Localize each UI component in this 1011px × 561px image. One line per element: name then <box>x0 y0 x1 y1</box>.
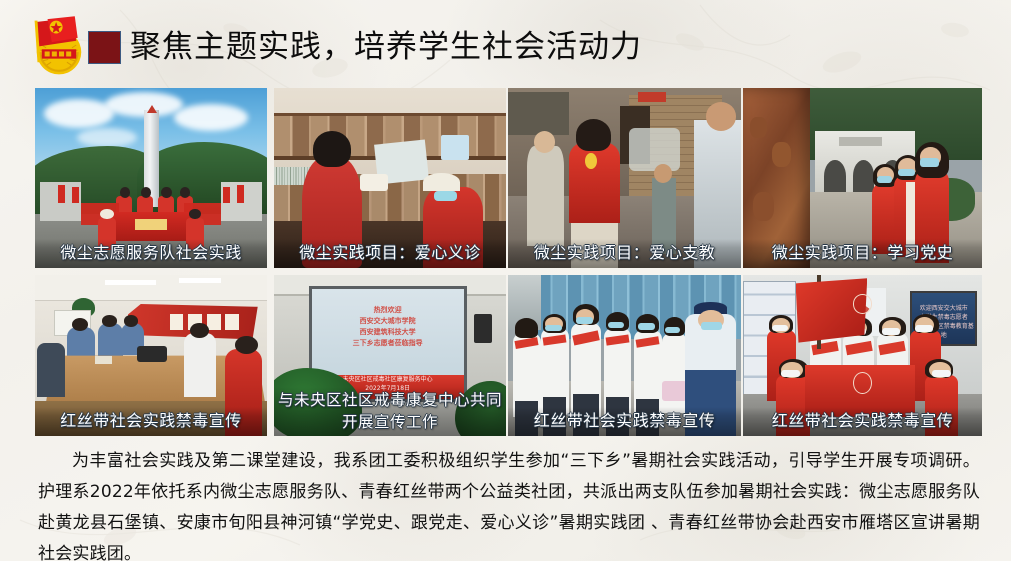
caption-line-2: 开展宣传工作 <box>274 411 506 433</box>
photo-monument-caption: 微尘志愿服务队社会实践 <box>35 239 267 268</box>
photo-street-campaign-caption: 红丝带社会实践禁毒宣传 <box>508 407 741 436</box>
photo-row-2: 红丝带社会实践禁毒宣传 热烈欢迎 西安交大城市学院 西安建筑科技大学 三下乡志愿… <box>35 275 982 436</box>
photo-free-clinic-caption: 微尘实践项目：爱心义诊 <box>274 239 506 268</box>
red-square-bullet <box>88 31 121 64</box>
slide-header: 聚焦主题实践，培养学生社会活动力 <box>0 0 1011 88</box>
caption-line-1: 与未央区社区戒毒康复中心共同 <box>274 389 506 411</box>
projector-line-3: 西安建筑科技大学 <box>312 327 464 338</box>
projector-line-4: 三下乡志愿者莅临指导 <box>312 338 464 349</box>
projector-line-1: 热烈欢迎 <box>312 305 464 316</box>
photo-meeting-room[interactable]: 红丝带社会实践禁毒宣传 <box>35 275 267 436</box>
photo-party-history-caption: 微尘实践项目：学习党史 <box>743 239 982 268</box>
body-paragraph: 为丰富社会实践及第二课堂建设，我系团工委积极组织学生参加“三下乡”暑期社会实践活… <box>38 446 980 561</box>
communist-youth-league-emblem <box>22 12 96 78</box>
photo-group-banner-caption: 红丝带社会实践禁毒宣传 <box>743 407 982 436</box>
slide-root: 聚焦主题实践，培养学生社会活动力 <box>0 0 1011 561</box>
projector-text: 热烈欢迎 西安交大城市学院 西安建筑科技大学 三下乡志愿者莅临指导 <box>312 305 464 349</box>
photo-free-clinic[interactable]: 微尘实践项目：爱心义诊 <box>274 88 506 268</box>
photo-teaching-support[interactable]: 微尘实践项目：爱心支教 <box>508 88 741 268</box>
projector-line-2: 西安交大城市学院 <box>312 316 464 327</box>
page-title: 聚焦主题实践，培养学生社会活动力 <box>130 26 642 68</box>
photo-group-banner[interactable]: 欢迎西安交大城市 大学生禁毒志愿者 参观未央区禁毒教育基地 <box>743 275 982 436</box>
photo-meeting-room-caption: 红丝带社会实践禁毒宣传 <box>35 407 267 436</box>
photo-street-campaign[interactable]: 红丝带社会实践禁毒宣传 <box>508 275 741 436</box>
photo-party-history[interactable]: 微尘实践项目：学习党史 <box>743 88 982 268</box>
tv-line-1: 欢迎西安交大城市 <box>912 304 975 313</box>
photo-rehab-center[interactable]: 热烈欢迎 西安交大城市学院 西安建筑科技大学 三下乡志愿者莅临指导 未央区社区戒… <box>274 275 506 436</box>
photo-monument[interactable]: 微尘志愿服务队社会实践 <box>35 88 267 268</box>
photo-row-1: 微尘志愿服务队社会实践 <box>35 88 982 268</box>
photo-teaching-support-caption: 微尘实践项目：爱心支教 <box>508 239 741 268</box>
photo-rehab-center-caption: 与未央区社区戒毒康复中心共同 开展宣传工作 <box>274 387 506 436</box>
